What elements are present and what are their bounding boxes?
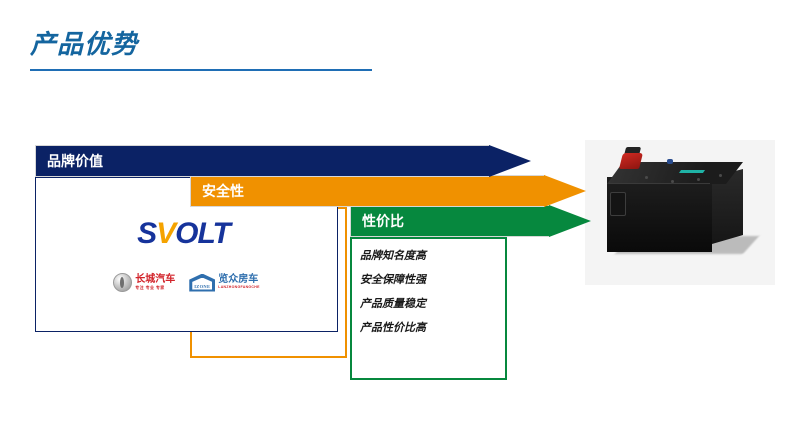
value-item-list: 品牌知名度高 安全保障性强 产品质量稳定 产品性价比高 xyxy=(352,239,505,336)
battery-vent-panel xyxy=(610,192,626,216)
greatwall-name: 长城汽车 xyxy=(135,275,175,285)
slide-canvas: 产品优势 品牌价值 安全性 性价比 SVOLT 长城汽车 专注 专业 专家 xyxy=(0,0,800,436)
banner-brand-arrowhead xyxy=(489,145,531,177)
svolt-logo-s: S xyxy=(137,217,156,250)
svolt-logo-v: V xyxy=(156,217,175,250)
battery-teal-label xyxy=(679,170,705,173)
list-item: 产品质量稳定 xyxy=(360,297,497,312)
banner-cost-performance: 性价比 xyxy=(350,205,600,237)
banner-value-label: 性价比 xyxy=(350,211,404,231)
banner-safety: 安全性 xyxy=(190,175,590,207)
greatwall-logo-text: 长城汽车 专注 专业 专家 xyxy=(135,275,175,290)
list-item: 安全保障性强 xyxy=(360,273,497,288)
title-underline xyxy=(30,69,372,71)
greatwall-tagline: 专注 专业 专家 xyxy=(135,286,175,290)
banner-safety-label: 安全性 xyxy=(190,181,244,201)
svolt-logo: SVOLT xyxy=(137,217,230,251)
banner-brand-bar xyxy=(35,145,490,177)
battery-pack-photo xyxy=(585,140,775,285)
izone-house-icon: IZONE xyxy=(189,274,215,292)
page-title: 产品优势 xyxy=(30,24,138,61)
greatwall-motors-logo: 长城汽车 专注 专业 专家 xyxy=(113,273,175,292)
izone-name: 览众房车 xyxy=(218,275,259,285)
battery-screw xyxy=(719,174,722,177)
panel-cost-performance: 品牌知名度高 安全保障性强 产品质量稳定 产品性价比高 xyxy=(350,237,507,380)
list-item: 品牌知名度高 xyxy=(360,249,497,264)
battery-lid-seam xyxy=(609,183,710,184)
izone-tagline: LANZHONGFANGCHE xyxy=(218,286,259,290)
banner-value-arrowhead xyxy=(549,205,591,237)
izone-rv-logo: IZONE 览众房车 LANZHONGFANGCHE xyxy=(189,274,259,292)
partner-logo-row: 长城汽车 专注 专业 专家 IZONE 览众房车 LANZHONGFANGCHE xyxy=(113,273,259,292)
banner-safety-arrowhead xyxy=(544,175,586,207)
battery-screw xyxy=(671,180,674,183)
greatwall-emblem-icon xyxy=(113,273,132,292)
battery-screw xyxy=(697,178,700,181)
battery-red-connector-icon xyxy=(619,153,643,169)
izone-badge-word: IZONE xyxy=(194,284,210,289)
banner-brand-value: 品牌价值 xyxy=(35,145,530,177)
battery-blue-cap-icon xyxy=(667,159,673,164)
izone-logo-text: 览众房车 LANZHONGFANGCHE xyxy=(218,275,259,290)
banner-brand-label: 品牌价值 xyxy=(35,151,103,171)
svolt-logo-olt: OLT xyxy=(175,217,230,250)
battery-screw xyxy=(645,176,648,179)
list-item: 产品性价比高 xyxy=(360,321,497,336)
